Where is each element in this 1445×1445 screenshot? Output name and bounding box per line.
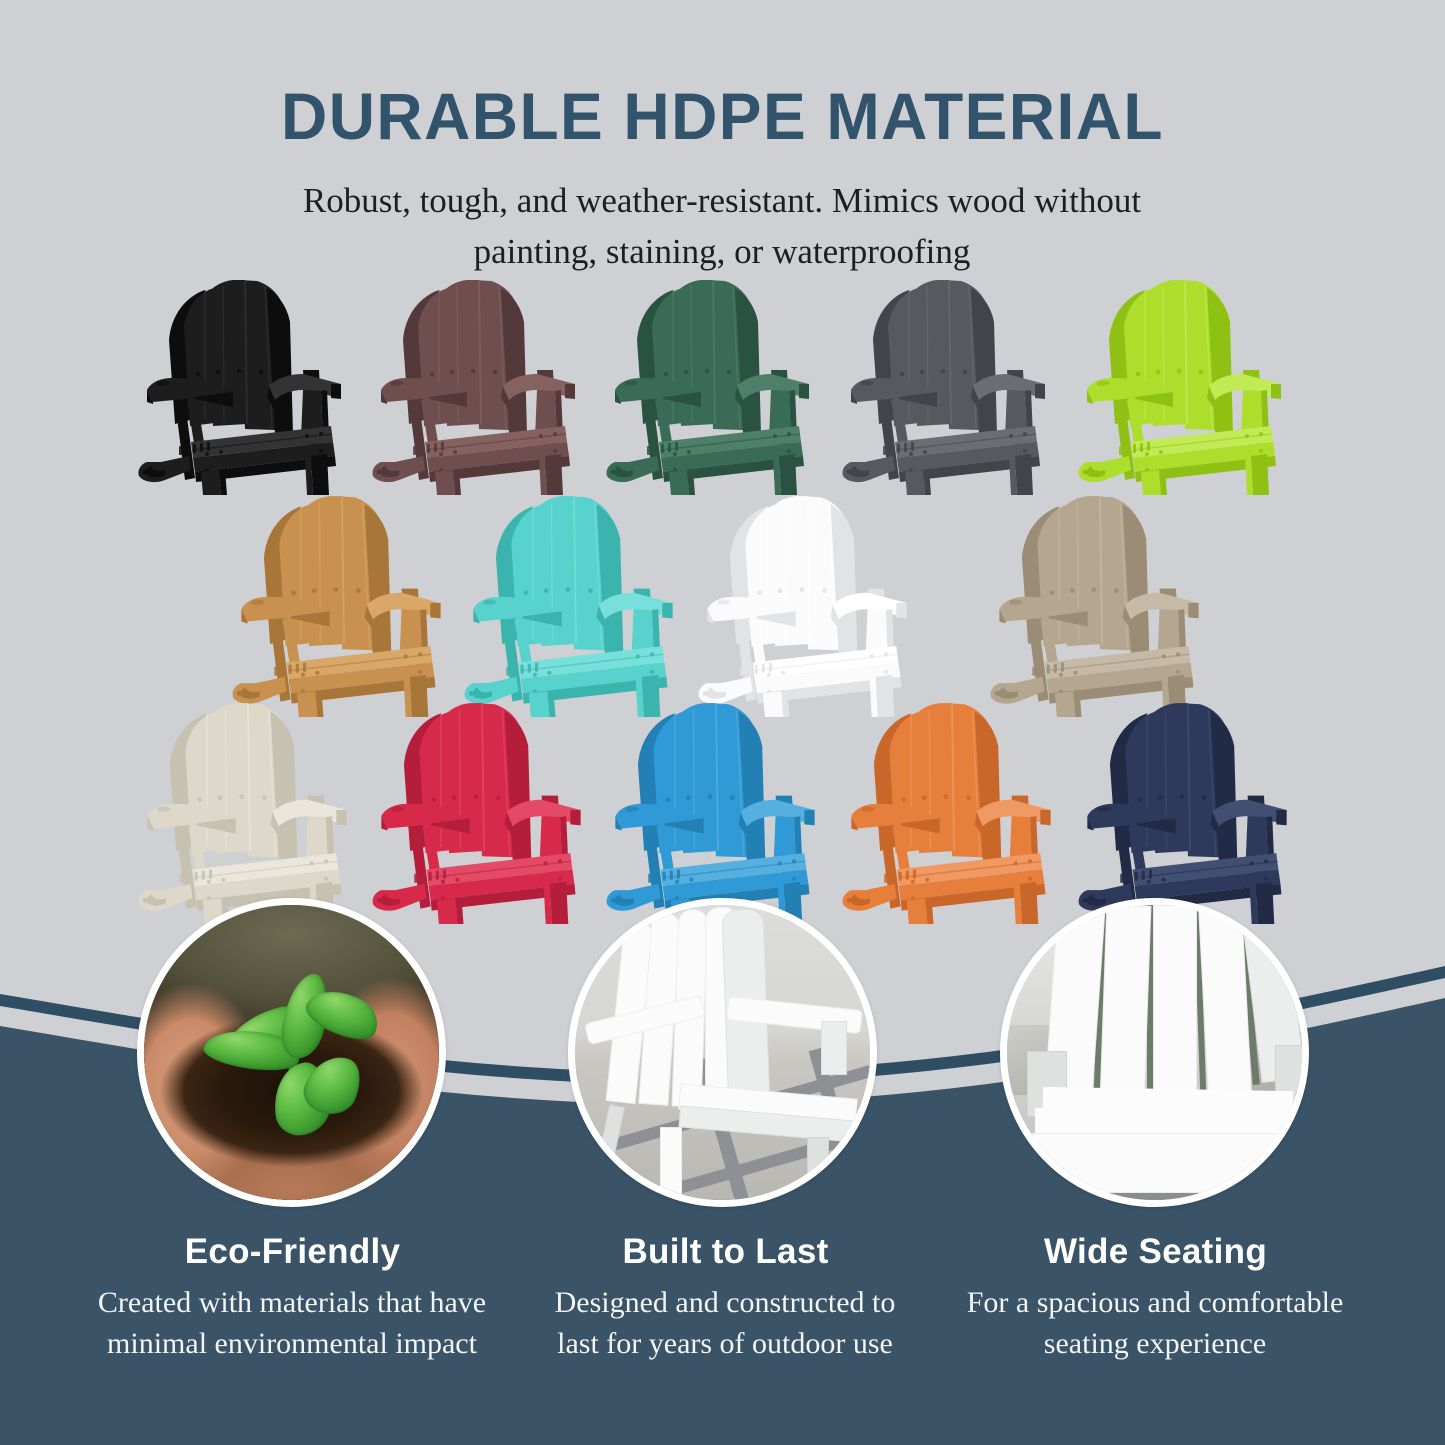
photo-hands-soil	[144, 905, 439, 1200]
feature-body-line-2: seating experience	[885, 1323, 1425, 1364]
poster-root: DURABLE HDPE MATERIAL Robust, tough, and…	[0, 0, 1445, 1445]
chair-swatch-lime-green[interactable]	[1074, 274, 1296, 496]
chair-swatch-ivory[interactable]	[134, 697, 362, 925]
chair-swatch-blue[interactable]	[602, 697, 830, 925]
subtitle-line-1: Robust, tough, and weather-resistant. Mi…	[222, 175, 1222, 226]
chair-back-slat	[1100, 904, 1152, 1101]
feature-body-wide-seating: For a spacious and comfortable seating e…	[885, 1282, 1425, 1364]
chair-front-leg	[660, 1127, 682, 1207]
feature-body-line-1: For a spacious and comfortable	[885, 1282, 1425, 1323]
chair-stretcher	[597, 1104, 625, 1166]
chair-swatch-weathered-wood[interactable]	[986, 490, 1214, 718]
chair-swatch-gray[interactable]	[838, 274, 1060, 496]
chair-swatch-navy[interactable]	[1074, 697, 1302, 925]
photo-wide-seat-closeup	[1007, 905, 1302, 1200]
feature-title-built-to-last: Built to Last	[478, 1232, 973, 1272]
chair-swatch-red[interactable]	[368, 697, 596, 925]
chair-swatch-turquoise[interactable]	[460, 490, 688, 718]
chair-swatch-dark-green[interactable]	[602, 274, 824, 496]
chair-back-slat	[1153, 905, 1197, 1101]
feature-title-eco-friendly: Eco-Friendly	[45, 1232, 540, 1272]
chair-seat-apron	[1029, 1133, 1305, 1193]
page-subtitle: Robust, tough, and weather-resistant. Mi…	[222, 175, 1222, 277]
shadow-under-seat	[1097, 1193, 1237, 1207]
page-title: DURABLE HDPE MATERIAL	[22, 78, 1424, 154]
chair-front-leg	[807, 1137, 829, 1207]
chair-swatch-teak[interactable]	[228, 490, 456, 718]
chair-arm-support	[821, 1021, 847, 1075]
feature-photo-built-to-last	[568, 898, 877, 1207]
photo-white-chair-patio	[575, 905, 870, 1200]
chair-swatch-white[interactable]	[694, 490, 922, 718]
chair-swatch-orange[interactable]	[838, 697, 1066, 925]
subtitle-line-2: painting, staining, or waterproofing	[222, 226, 1222, 277]
chair-swatch-brown[interactable]	[368, 274, 590, 496]
feature-photo-wide-seating	[1000, 898, 1309, 1207]
feature-photo-eco-friendly	[137, 898, 446, 1207]
feature-title-wide-seating: Wide Seating	[908, 1232, 1403, 1272]
chair-swatch-black[interactable]	[134, 274, 356, 496]
